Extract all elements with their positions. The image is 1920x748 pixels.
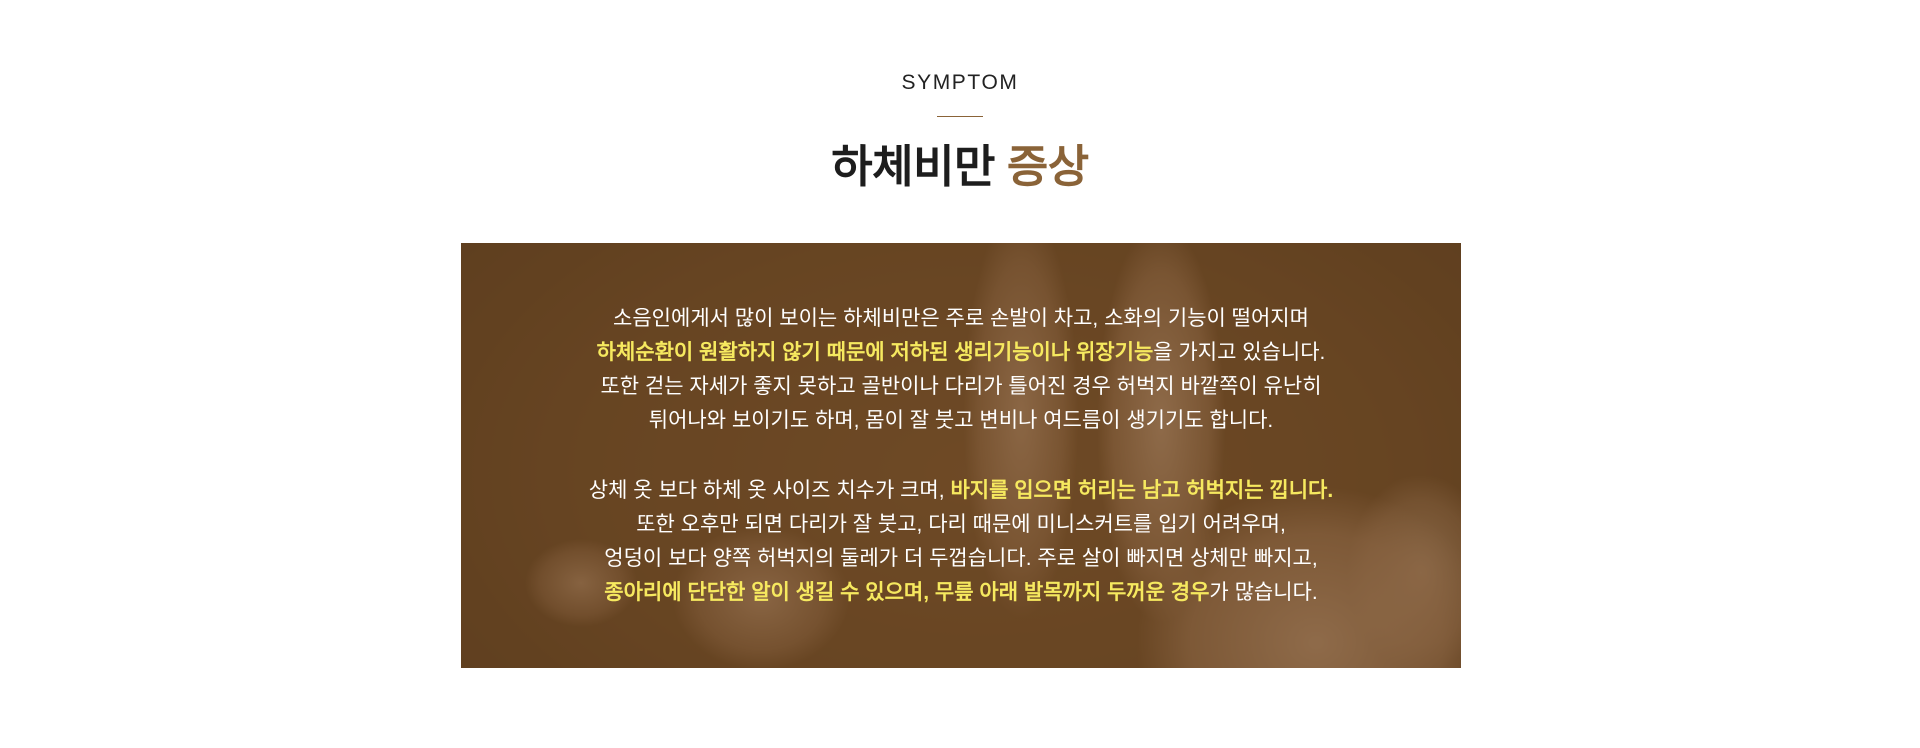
body-text: 또한 오후만 되면 다리가 잘 붓고, 다리 때문에 미니스커트를 입기 어려우… bbox=[636, 513, 1286, 536]
page-title: 하체비만 증상 bbox=[0, 141, 1920, 193]
symptom-line: 종아리에 단단한 알이 생길 수 있으며, 무릎 아래 발목까지 두꺼운 경우가… bbox=[479, 576, 1443, 610]
page-title-accent: 증상 bbox=[995, 141, 1089, 192]
section-eyebrow: SYMPTOM bbox=[0, 72, 1920, 93]
page-root: SYMPTOM 하체비만 증상 소음인에게서 많이 보이는 하체비만은 주로 손… bbox=[0, 0, 1920, 748]
body-text: 을 가지고 있습니다. bbox=[1153, 341, 1325, 364]
symptom-line: 상체 옷 보다 하체 옷 사이즈 치수가 크며, 바지를 입으면 허리는 남고 … bbox=[479, 474, 1443, 508]
symptom-paragraph: 소음인에게서 많이 보이는 하체비만은 주로 손발이 차고, 소화의 기능이 떨… bbox=[479, 302, 1443, 438]
body-text: 또한 걷는 자세가 좋지 못하고 골반이나 다리가 틀어진 경우 허벅지 바깥쪽… bbox=[600, 375, 1321, 398]
panel-text-block: 소음인에게서 많이 보이는 하체비만은 주로 손발이 차고, 소화의 기능이 떨… bbox=[461, 243, 1461, 668]
body-text: 소음인에게서 많이 보이는 하체비만은 주로 손발이 차고, 소화의 기능이 떨… bbox=[613, 307, 1309, 330]
header-divider bbox=[937, 116, 983, 117]
section-header: SYMPTOM 하체비만 증상 bbox=[0, 0, 1920, 193]
body-text: 튀어나와 보이기도 하며, 몸이 잘 붓고 변비나 여드름이 생기기도 합니다. bbox=[649, 409, 1273, 432]
symptom-panel: 소음인에게서 많이 보이는 하체비만은 주로 손발이 차고, 소화의 기능이 떨… bbox=[461, 243, 1461, 668]
highlighted-text: 바지를 입으면 허리는 남고 허벅지는 낍니다. bbox=[950, 479, 1333, 502]
page-title-primary: 하체비만 bbox=[831, 141, 995, 192]
symptom-line: 또한 걷는 자세가 좋지 못하고 골반이나 다리가 틀어진 경우 허벅지 바깥쪽… bbox=[479, 370, 1443, 404]
body-text: 상체 옷 보다 하체 옷 사이즈 치수가 크며, bbox=[589, 479, 951, 502]
symptom-line: 엉덩이 보다 양쪽 허벅지의 둘레가 더 두껍습니다. 주로 살이 빠지면 상체… bbox=[479, 542, 1443, 576]
body-text: 엉덩이 보다 양쪽 허벅지의 둘레가 더 두껍습니다. 주로 살이 빠지면 상체… bbox=[604, 547, 1317, 570]
symptom-line: 소음인에게서 많이 보이는 하체비만은 주로 손발이 차고, 소화의 기능이 떨… bbox=[479, 302, 1443, 336]
symptom-line: 튀어나와 보이기도 하며, 몸이 잘 붓고 변비나 여드름이 생기기도 합니다. bbox=[479, 404, 1443, 438]
symptom-paragraph: 상체 옷 보다 하체 옷 사이즈 치수가 크며, 바지를 입으면 허리는 남고 … bbox=[479, 474, 1443, 610]
highlighted-text: 하체순환이 원활하지 않기 때문에 저하된 생리기능이나 위장기능 bbox=[597, 341, 1154, 364]
symptom-line: 또한 오후만 되면 다리가 잘 붓고, 다리 때문에 미니스커트를 입기 어려우… bbox=[479, 508, 1443, 542]
body-text: 가 많습니다. bbox=[1209, 581, 1317, 604]
symptom-line: 하체순환이 원활하지 않기 때문에 저하된 생리기능이나 위장기능을 가지고 있… bbox=[479, 336, 1443, 370]
highlighted-text: 종아리에 단단한 알이 생길 수 있으며, 무릎 아래 발목까지 두꺼운 경우 bbox=[604, 581, 1209, 604]
